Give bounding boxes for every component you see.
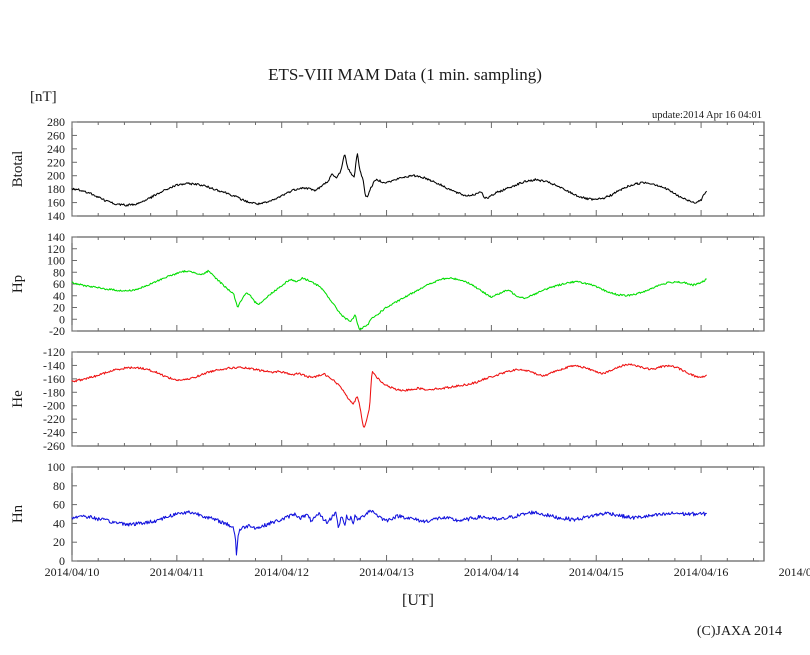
y-tick-label: -240	[43, 426, 65, 440]
x-tick-label: 2014/04/11	[150, 565, 204, 579]
y-unit-label: [nT]	[30, 89, 57, 105]
y-tick-label: 60	[53, 498, 65, 512]
x-tick-label: 2014/04/16	[674, 565, 729, 579]
y-tick-label: -120	[43, 345, 65, 359]
y-tick-label: 260	[47, 128, 65, 142]
y-tick-label: -200	[43, 399, 65, 413]
y-tick-label: 40	[53, 516, 65, 530]
y-tick-label: -160	[43, 372, 65, 386]
y-tick-label: 280	[47, 115, 65, 129]
x-tick-label: 2014/04/10	[45, 565, 100, 579]
copyright-credit: (C)JAXA 2014	[697, 624, 782, 639]
y-tick-label: 80	[53, 479, 65, 493]
y-tick-label: 200	[47, 169, 65, 183]
y-tick-label: 180	[47, 182, 65, 196]
y-tick-label: -180	[43, 385, 65, 399]
y-tick-label: 240	[47, 142, 65, 156]
panel-axis-name-hp: Hp	[10, 275, 26, 293]
y-tick-label: -260	[43, 439, 65, 453]
y-tick-label: 100	[47, 460, 65, 474]
ets8-mam-magnetometer-figure: ETS-VIII MAM Data (1 min. sampling) [nT]…	[0, 0, 810, 655]
y-tick-label: -220	[43, 412, 65, 426]
page-title: ETS-VIII MAM Data (1 min. sampling)	[268, 65, 542, 84]
x-tick-label: 2014/04/17	[779, 565, 810, 579]
update-timestamp-label: update:2014 Apr 16 04:01	[652, 110, 762, 121]
x-tick-label: 2014/04/12	[254, 565, 309, 579]
x-tick-label: 2014/04/15	[569, 565, 624, 579]
panel-axis-name-hn: Hn	[10, 504, 26, 523]
y-tick-label: -140	[43, 358, 65, 372]
panel-axis-name-he: He	[10, 390, 26, 408]
y-tick-label: 140	[47, 230, 65, 244]
y-tick-label: 160	[47, 196, 65, 210]
x-axis-title: [UT]	[402, 592, 434, 609]
y-tick-label: 220	[47, 155, 65, 169]
x-tick-label: 2014/04/13	[359, 565, 414, 579]
x-tick-label: 2014/04/14	[464, 565, 519, 579]
panel-axis-name-btotal: Btotal	[10, 151, 26, 188]
figure-background	[0, 0, 810, 655]
y-tick-label: 20	[53, 535, 65, 549]
y-tick-label: 140	[47, 209, 65, 223]
